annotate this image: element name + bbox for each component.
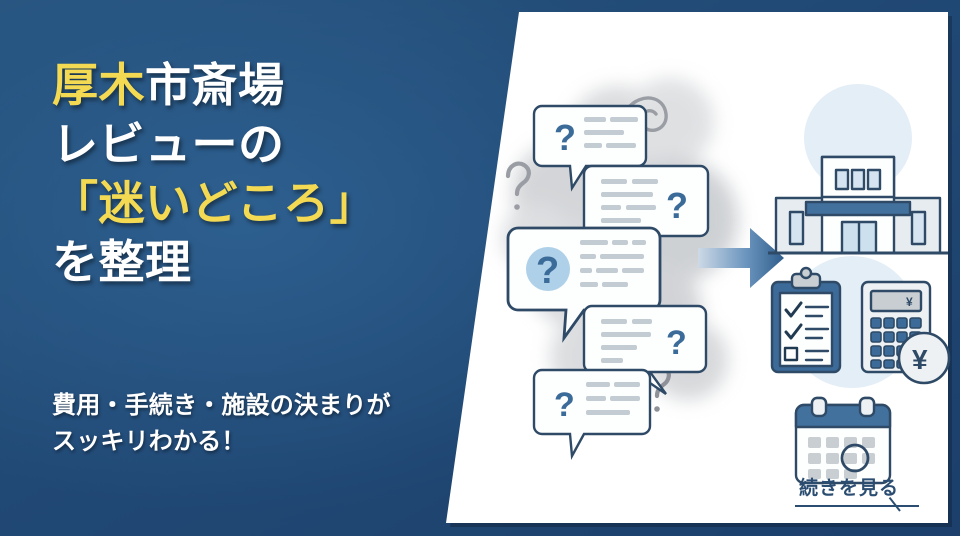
funeral-hall-building-icon [768,157,948,253]
question-mark: ? [666,185,688,226]
yen-symbol: ¥ [912,344,928,375]
read-more-label: 続きを見る [795,473,927,500]
headline-line-1-plain: 市斎場 [145,59,285,111]
headline-line-3-highlight: 「迷いどころ」 [52,177,376,229]
banner-root: ? ? [0,0,960,536]
clipboard-checklist-icon [772,268,840,372]
subtitle-block: 費用・手続き・施設の決まりが スッキリわかる！ [52,388,452,460]
headline-line-4: を整理 [52,233,452,292]
question-mark: ? [554,117,576,158]
checkbox-unchecked [785,348,797,360]
yen-display: ¥ [906,295,913,309]
calculator-yen-icon: ¥ [862,282,949,383]
headline-block: 厚木市斎場 レビューの 「迷いどころ」 を整理 [52,56,452,292]
headline-line-1: 厚木市斎場 [52,56,452,115]
subtitle-line-2: スッキリわかる！ [52,424,452,460]
headline-line-2-plain: レビューの [52,118,285,170]
subtitle-line-1: 費用・手続き・施設の決まりが [52,388,452,424]
headline-line-3: 「迷いどころ」 [52,174,452,233]
question-mark: ? [536,250,559,292]
calendar-icon [796,398,890,483]
headline-line-2: レビューの [52,115,452,174]
read-more-cta[interactable]: 続きを見る [795,473,927,519]
headline-line-4-plain: を整理 [52,236,192,288]
illustration-group: ? ? [500,60,950,440]
arrow-right-icon [795,505,927,519]
cta-underline [795,505,919,507]
question-mark: ? [554,386,575,424]
question-mark: ? [666,324,687,362]
headline-line-1-highlight: 厚木 [52,59,145,111]
